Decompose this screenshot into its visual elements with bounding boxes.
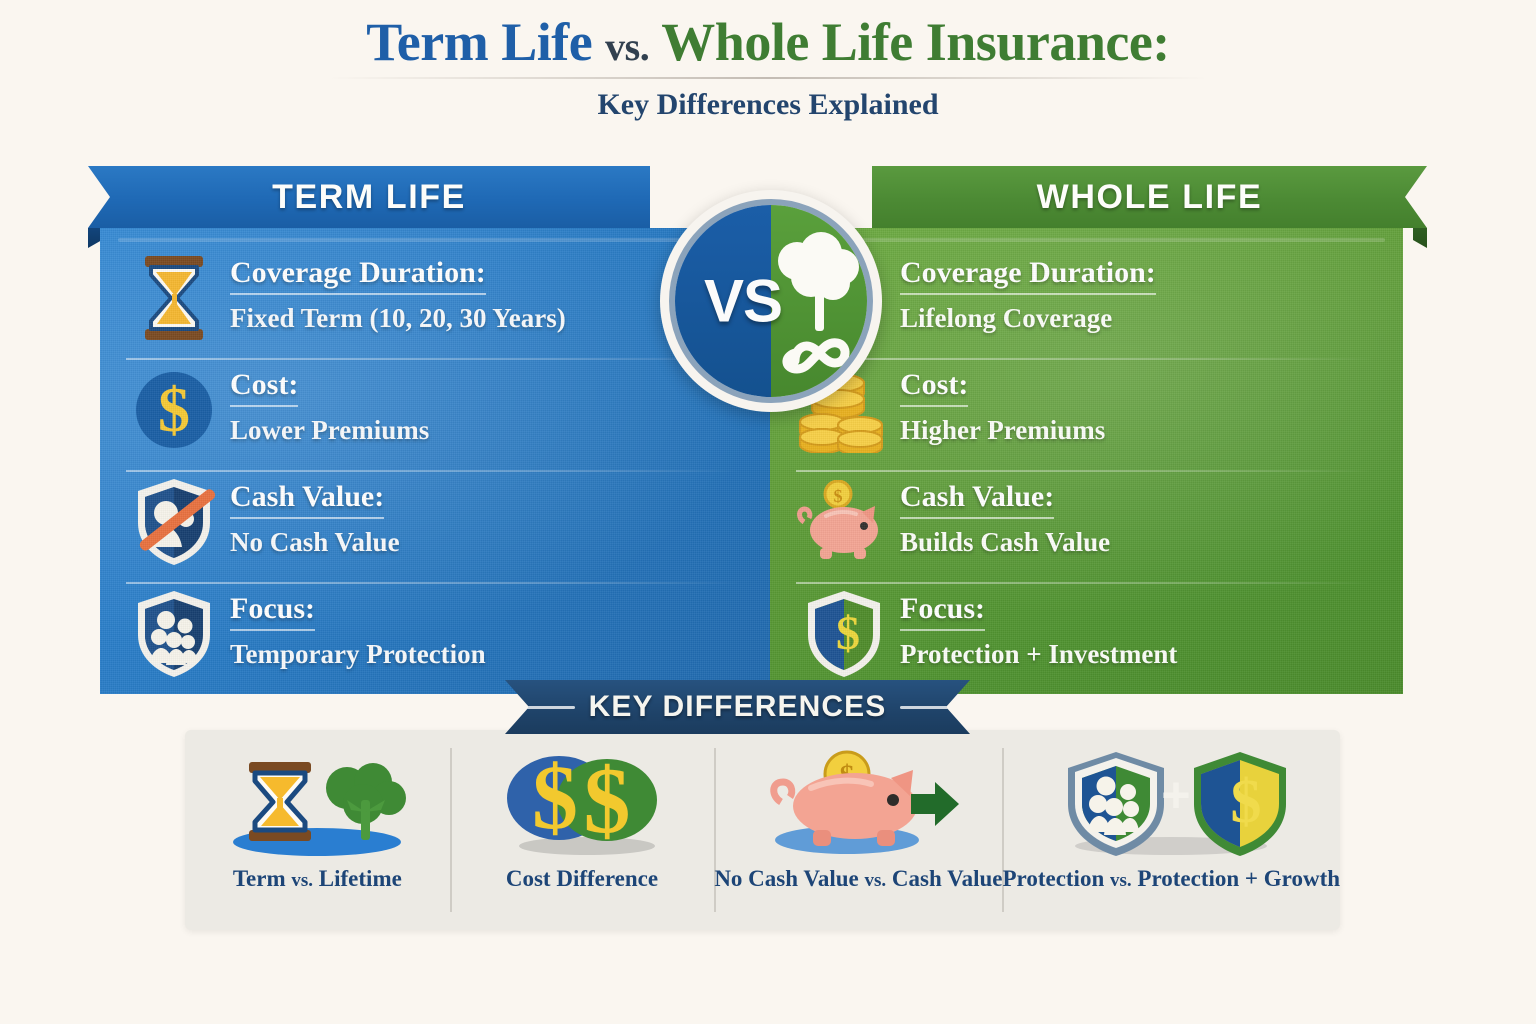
tree-infinity-icon: [761, 221, 865, 393]
feature-value: Lifelong Coverage: [900, 303, 1156, 334]
feature-row-coverage-duration: $ Coverage Duration: Lifelong Coverage: [796, 250, 1377, 362]
feature-label: Cash Value:: [900, 480, 1054, 519]
feature-text-cash-value: Cash Value: Builds Cash Value: [892, 474, 1110, 558]
hourglass-tree-icon: [217, 744, 417, 860]
banner-term-life-label: TERM LIFE: [272, 178, 466, 217]
page-header: Term Life vs. Whole Life Insurance: Key …: [0, 14, 1536, 122]
feature-label: Coverage Duration:: [230, 256, 486, 295]
page-subtitle: Key Differences Explained: [0, 88, 1536, 122]
feature-row-cash-value: $ Cash Value: Builds Cash Value: [796, 474, 1377, 586]
kd-label-a: Cost Difference: [506, 866, 658, 891]
key-difference-card-cash-value: $ No Cash Value vs. Cash Value: [714, 730, 1002, 930]
hourglass-icon: [126, 250, 222, 346]
svg-text:$: $: [836, 607, 860, 660]
svg-text:$: $: [532, 746, 578, 848]
piggy-bank-pink-icon: $: [796, 474, 892, 570]
key-difference-label: Protection vs. Protection + Growth: [1002, 866, 1340, 892]
feature-text-cost: Cost: Higher Premiums: [892, 362, 1105, 446]
feature-text-focus: Focus: Protection + Investment: [892, 586, 1177, 670]
vs-badge-ring: VS: [669, 199, 873, 403]
feature-row-cost: $ Cost: Lower Premiums: [126, 362, 744, 474]
key-difference-card-term-vs-lifetime: Term vs. Lifetime: [185, 730, 450, 930]
feature-value: Fixed Term (10, 20, 30 Years): [230, 303, 566, 334]
feature-text-coverage-duration: Coverage Duration: Lifelong Coverage: [892, 250, 1156, 334]
shield-family-icon: [126, 586, 222, 682]
feature-row-cash-value: Cash Value: No Cash Value: [126, 474, 744, 586]
key-difference-label: Term vs. Lifetime: [233, 866, 402, 892]
ribbon-notch-right: [1413, 228, 1427, 248]
kd-label-a: Term: [233, 866, 286, 891]
svg-text:+: +: [1162, 767, 1191, 823]
feature-value: Builds Cash Value: [900, 527, 1110, 558]
feature-value: Lower Premiums: [230, 415, 429, 446]
kd-label-a: No Cash Value: [714, 866, 858, 891]
key-differences-strip: Term vs. Lifetime $ $ Cost Difference $: [185, 730, 1340, 930]
feature-row-coverage-duration: Coverage Duration: Fixed Term (10, 20, 3…: [126, 250, 744, 362]
key-difference-card-protection: + $ Protection vs. Protection + Growth: [1002, 730, 1340, 930]
svg-text:$: $: [583, 749, 630, 853]
banner-key-differences-label: KEY DIFFERENCES: [589, 690, 887, 724]
key-difference-card-cost-difference: $ $ Cost Difference: [450, 730, 715, 930]
feature-text-cost: Cost: Lower Premiums: [222, 362, 429, 446]
page-title: Term Life vs. Whole Life Insurance:: [0, 14, 1536, 71]
key-difference-label: No Cash Value vs. Cash Value: [714, 866, 1002, 892]
feature-row-cost: Cost: Higher Premiums: [796, 362, 1377, 474]
feature-value: No Cash Value: [230, 527, 400, 558]
feature-label: Cash Value:: [230, 480, 384, 519]
kd-label-b: Cash Value: [892, 866, 1003, 891]
feature-text-focus: Focus: Temporary Protection: [222, 586, 486, 670]
feature-row-focus: $ Focus: Protection + Investment: [796, 586, 1377, 694]
feature-value: Protection + Investment: [900, 639, 1177, 670]
kd-connector: vs.: [865, 870, 887, 891]
banner-key-differences: KEY DIFFERENCES: [505, 680, 970, 734]
svg-text:$: $: [158, 374, 190, 445]
feature-text-cash-value: Cash Value: No Cash Value: [222, 474, 400, 558]
feature-value: Temporary Protection: [230, 639, 486, 670]
kd-label-a: Protection: [1002, 866, 1104, 891]
feature-label: Focus:: [230, 592, 315, 631]
title-term-life: Term Life: [366, 12, 592, 72]
shield-dollar-icon: $: [796, 586, 892, 682]
banner-dash-right: [900, 706, 954, 709]
shield-crossed-out-icon: [126, 474, 222, 570]
kd-label-b: Protection + Growth: [1137, 866, 1340, 891]
kd-connector: vs.: [1110, 870, 1132, 891]
kd-label-b: Lifetime: [319, 866, 402, 891]
two-dollars-icon: $ $: [487, 744, 677, 860]
feature-label: Cost:: [900, 368, 968, 407]
feature-row-focus: Focus: Temporary Protection: [126, 586, 744, 694]
feature-text-coverage-duration: Coverage Duration: Fixed Term (10, 20, 3…: [222, 250, 566, 334]
kd-connector: vs.: [291, 870, 313, 891]
svg-text:$: $: [834, 486, 843, 506]
two-shields-icon: + $: [1046, 744, 1296, 860]
key-difference-label: Cost Difference: [506, 866, 658, 892]
banner-whole-life-label: WHOLE LIFE: [1037, 178, 1263, 217]
title-whole-life: Whole Life Insurance:: [661, 12, 1170, 72]
feature-label: Cost:: [230, 368, 298, 407]
feature-label: Focus:: [900, 592, 985, 631]
banner-whole-life: WHOLE LIFE: [872, 166, 1427, 228]
svg-text:$: $: [1231, 768, 1262, 836]
banner-term-life: TERM LIFE: [88, 166, 650, 228]
title-connector: vs.: [605, 24, 649, 69]
dollar-coin-icon: $: [126, 362, 222, 458]
piggy-arrow-icon: $: [751, 744, 966, 860]
banner-dash-left: [521, 706, 575, 709]
feature-label: Coverage Duration:: [900, 256, 1156, 295]
feature-value: Higher Premiums: [900, 415, 1105, 446]
vs-badge: VS: [660, 190, 882, 412]
title-divider: [328, 77, 1208, 79]
